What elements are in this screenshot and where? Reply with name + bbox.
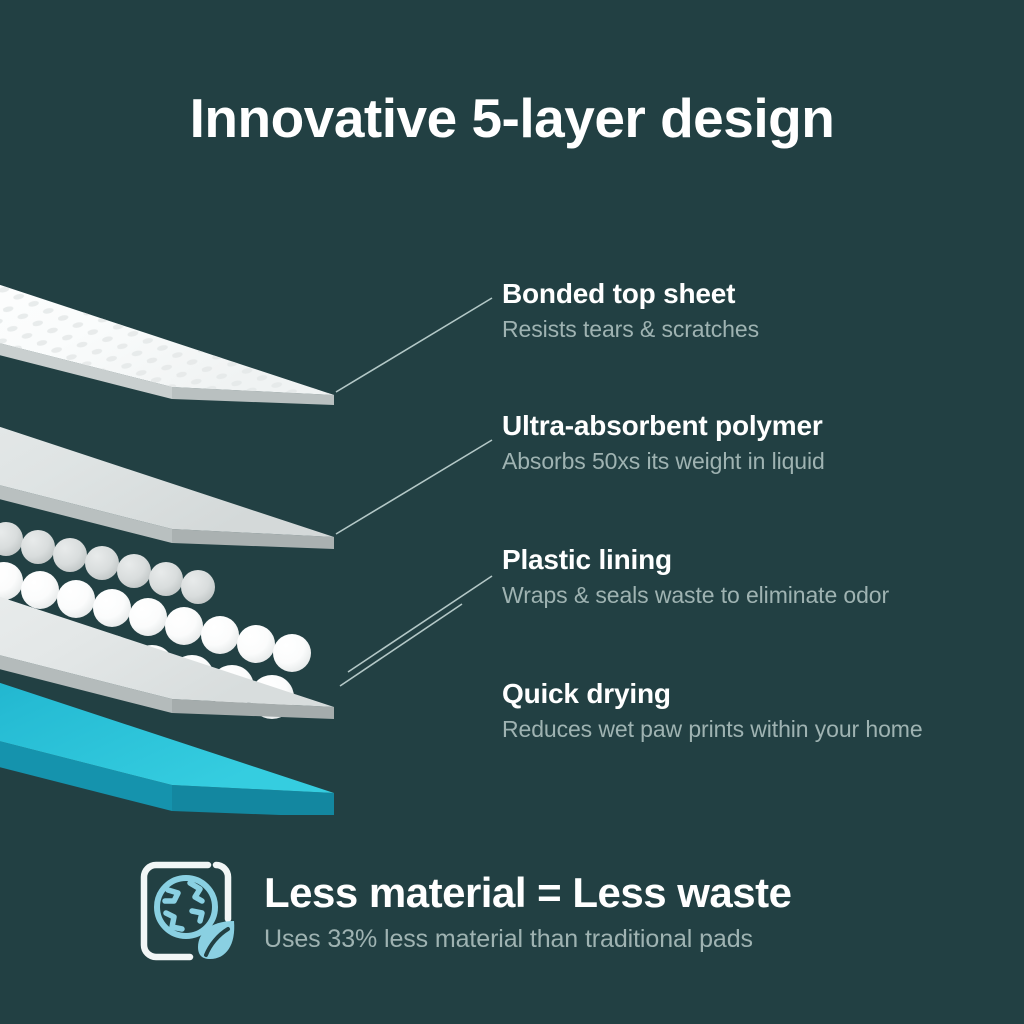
callout-title: Plastic lining (502, 544, 1024, 576)
callout-title: Ultra-absorbent polymer (502, 410, 1024, 442)
globe-leaf-icon (138, 859, 242, 963)
eco-banner-subtitle: Uses 33% less material than traditional … (264, 924, 791, 954)
callout-plastic-lining: Plastic lining Wraps & seals waste to el… (502, 544, 1024, 610)
callout-polymer: Ultra-absorbent polymer Absorbs 50xs its… (502, 410, 1024, 476)
eco-banner-title: Less material = Less waste (264, 870, 791, 916)
layer-shape-top-sheet (0, 275, 334, 405)
callout-subtitle: Reduces wet paw prints within your home (502, 716, 1024, 744)
callout-quick-drying: Quick drying Reduces wet paw prints with… (502, 678, 1024, 744)
layer-stack-illustration (0, 215, 410, 815)
callout-top-sheet: Bonded top sheet Resists tears & scratch… (502, 278, 1024, 344)
infographic-canvas: Innovative 5-layer design (0, 0, 1024, 1024)
callout-title: Bonded top sheet (502, 278, 1024, 310)
page-title: Innovative 5-layer design (0, 88, 1024, 149)
callout-subtitle: Absorbs 50xs its weight in liquid (502, 448, 1024, 476)
layer-shape-polymer-sheet (0, 417, 334, 549)
callout-title: Quick drying (502, 678, 1024, 710)
callout-subtitle: Resists tears & scratches (502, 316, 1024, 344)
eco-banner: Less material = Less waste Uses 33% less… (138, 846, 1018, 976)
callout-subtitle: Wraps & seals waste to eliminate odor (502, 582, 1024, 610)
eco-banner-text: Less material = Less waste Uses 33% less… (264, 868, 791, 953)
